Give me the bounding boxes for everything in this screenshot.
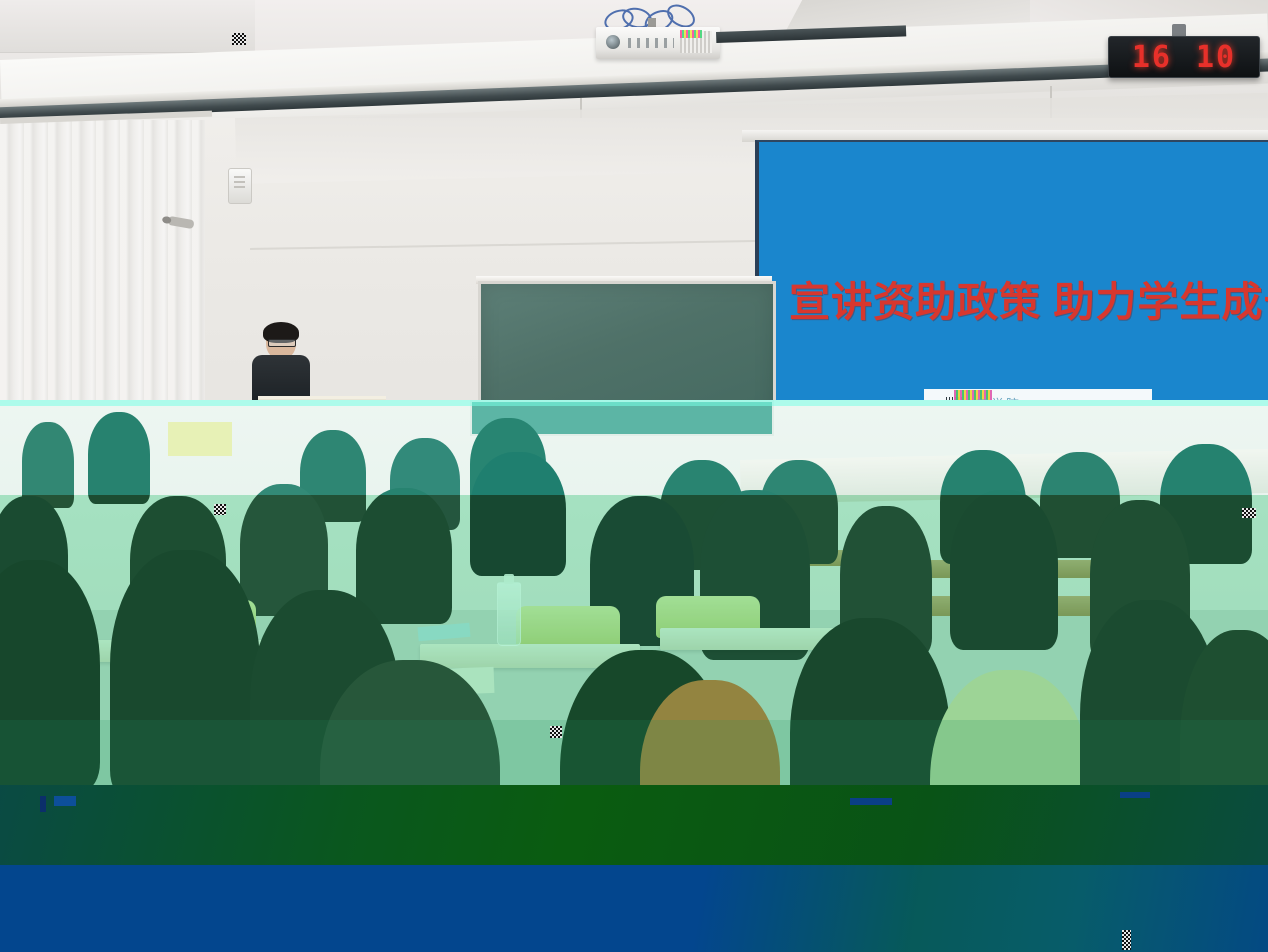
screenshot-canvas: 16 10 宣讲资助政策 助力学生成长 工学院	[0, 0, 1268, 952]
ceiling-projector	[596, 27, 720, 59]
student-near-6	[790, 618, 950, 868]
clock-hours: 16	[1132, 40, 1172, 75]
presenter	[252, 325, 310, 403]
audience-area	[0, 400, 1268, 952]
wall-poster	[168, 422, 232, 456]
student-near-4	[320, 660, 500, 900]
slide-title: 宣讲资助政策 助力学生成长	[789, 268, 1268, 328]
water-bottle	[497, 582, 521, 646]
ceiling-panel-left	[0, 0, 255, 53]
student-near-7	[930, 670, 1090, 910]
student-near-10	[640, 680, 780, 880]
wall-digital-clock: 16 10	[1108, 36, 1260, 78]
notebook	[417, 623, 470, 641]
projector-connectors	[628, 38, 674, 48]
presenter-glasses-icon	[268, 339, 296, 347]
clock-minutes: 10	[1196, 40, 1236, 75]
student-near-2	[110, 550, 260, 800]
projector-vent	[680, 31, 712, 53]
student-mid-5	[470, 452, 566, 576]
projector-lens-icon	[606, 35, 620, 49]
chair-2	[516, 606, 620, 648]
student-mid-4	[356, 488, 452, 624]
student-near-9	[1180, 630, 1268, 870]
student-mid-9	[950, 490, 1058, 650]
wall-sensor-device	[228, 168, 252, 204]
window-curtain	[0, 120, 205, 410]
student-far-2	[88, 412, 150, 504]
desk-3	[660, 628, 840, 650]
